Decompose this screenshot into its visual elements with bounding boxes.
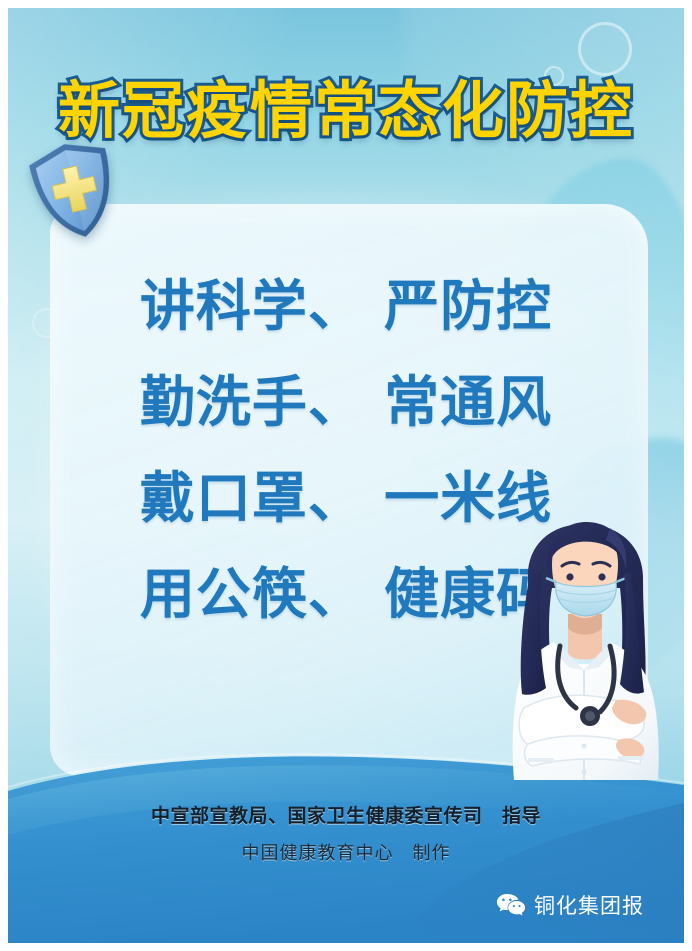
page-title: 新冠疫情常态化防控 bbox=[58, 80, 634, 142]
female-doctor-illustration bbox=[498, 518, 676, 780]
poster-root: 新冠疫情常态化防控 bbox=[0, 0, 692, 951]
credits-block: 中宣部宣教局、国家卫生健康委宣传司 指导 中国健康教育中心 制作 bbox=[8, 801, 684, 865]
slogan-line-2: 勤洗手、 常通风 bbox=[8, 354, 684, 450]
credit-line-guidance: 中宣部宣教局、国家卫生健康委宣传司 指导 bbox=[8, 801, 684, 828]
decorative-bubble-icon bbox=[578, 22, 632, 76]
wechat-account-name: 铜化集团报 bbox=[534, 890, 644, 920]
poster-canvas: 新冠疫情常态化防控 bbox=[8, 8, 684, 943]
wechat-account-block[interactable]: 铜化集团报 bbox=[496, 890, 644, 920]
slogan-line-1: 讲科学、 严防控 bbox=[8, 258, 684, 354]
credit-line-production: 中国健康教育中心 制作 bbox=[8, 839, 684, 865]
wechat-icon bbox=[496, 892, 526, 918]
poster-title-container: 新冠疫情常态化防控 bbox=[8, 80, 684, 142]
